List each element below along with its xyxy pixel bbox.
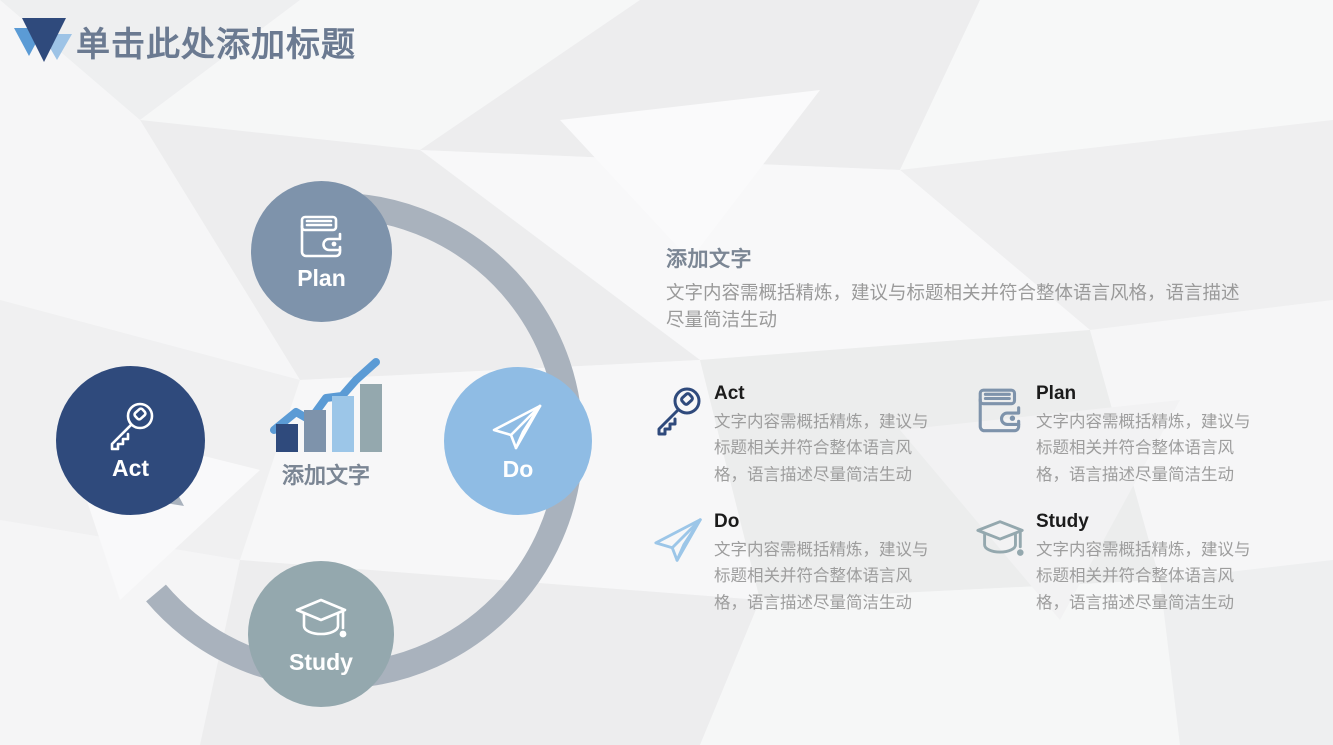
intro-heading: 添加文字 (666, 243, 1306, 273)
cycle-node-label: Plan (297, 267, 346, 290)
item-title: Do (714, 512, 952, 533)
cycle-node-label: Study (289, 651, 353, 674)
cycle-node-label: Act (112, 457, 149, 480)
graduation-cap-icon (293, 595, 349, 645)
wallet-icon (296, 213, 348, 261)
key-icon (104, 401, 158, 451)
items-grid: Act 文字内容需概括精炼，建议与标题相关并符合整体语言风格，语言描述尽量简洁生… (652, 384, 1312, 616)
cycle-node-label: Do (503, 458, 534, 481)
list-item[interactable]: Study 文字内容需概括精炼，建议与标题相关并符合整体语言风格，语言描述尽量简… (974, 512, 1274, 616)
item-description: 文字内容需概括精炼，建议与标题相关并符合整体语言风格，语言描述尽量简洁生动 (1036, 537, 1258, 616)
slide-header: 单击此处添加标题 (0, 0, 1333, 82)
wallet-icon (974, 386, 1028, 438)
intro-block: 添加文字 文字内容需概括精炼，建议与标题相关并符合整体语言风格，语言描述尽量简洁… (666, 243, 1306, 335)
center-graphic: 添加文字 (246, 354, 406, 499)
paper-plane-icon (490, 402, 546, 452)
item-title: Act (714, 384, 952, 405)
cycle-node-plan[interactable]: Plan (251, 181, 392, 322)
graduation-cap-icon (974, 514, 1028, 566)
bar-chart-growth-icon (270, 354, 382, 454)
item-description: 文字内容需概括精炼，建议与标题相关并符合整体语言风格，语言描述尽量简洁生动 (714, 409, 936, 488)
item-description: 文字内容需概括精炼，建议与标题相关并符合整体语言风格，语言描述尽量简洁生动 (1036, 409, 1258, 488)
intro-body: 文字内容需概括精炼，建议与标题相关并符合整体语言风格，语言描述尽量简洁生动 (666, 281, 1246, 335)
paper-plane-icon (652, 514, 706, 566)
list-item[interactable]: Do 文字内容需概括精炼，建议与标题相关并符合整体语言风格，语言描述尽量简洁生动 (652, 512, 952, 616)
cycle-node-act[interactable]: Act (56, 366, 205, 515)
item-description: 文字内容需概括精炼，建议与标题相关并符合整体语言风格，语言描述尽量简洁生动 (714, 537, 936, 616)
cycle-node-study[interactable]: Study (248, 561, 394, 707)
pdsa-cycle-diagram: 添加文字 Plan Do (48, 168, 608, 713)
cycle-node-do[interactable]: Do (444, 367, 592, 515)
item-title: Plan (1036, 384, 1274, 405)
key-icon (652, 386, 706, 438)
list-item[interactable]: Act 文字内容需概括精炼，建议与标题相关并符合整体语言风格，语言描述尽量简洁生… (652, 384, 952, 488)
item-title: Study (1036, 512, 1274, 533)
triangles-logo-icon (8, 12, 74, 68)
page-title: 单击此处添加标题 (76, 17, 356, 66)
center-label: 添加文字 (282, 458, 370, 490)
list-item[interactable]: Plan 文字内容需概括精炼，建议与标题相关并符合整体语言风格，语言描述尽量简洁… (974, 384, 1274, 488)
